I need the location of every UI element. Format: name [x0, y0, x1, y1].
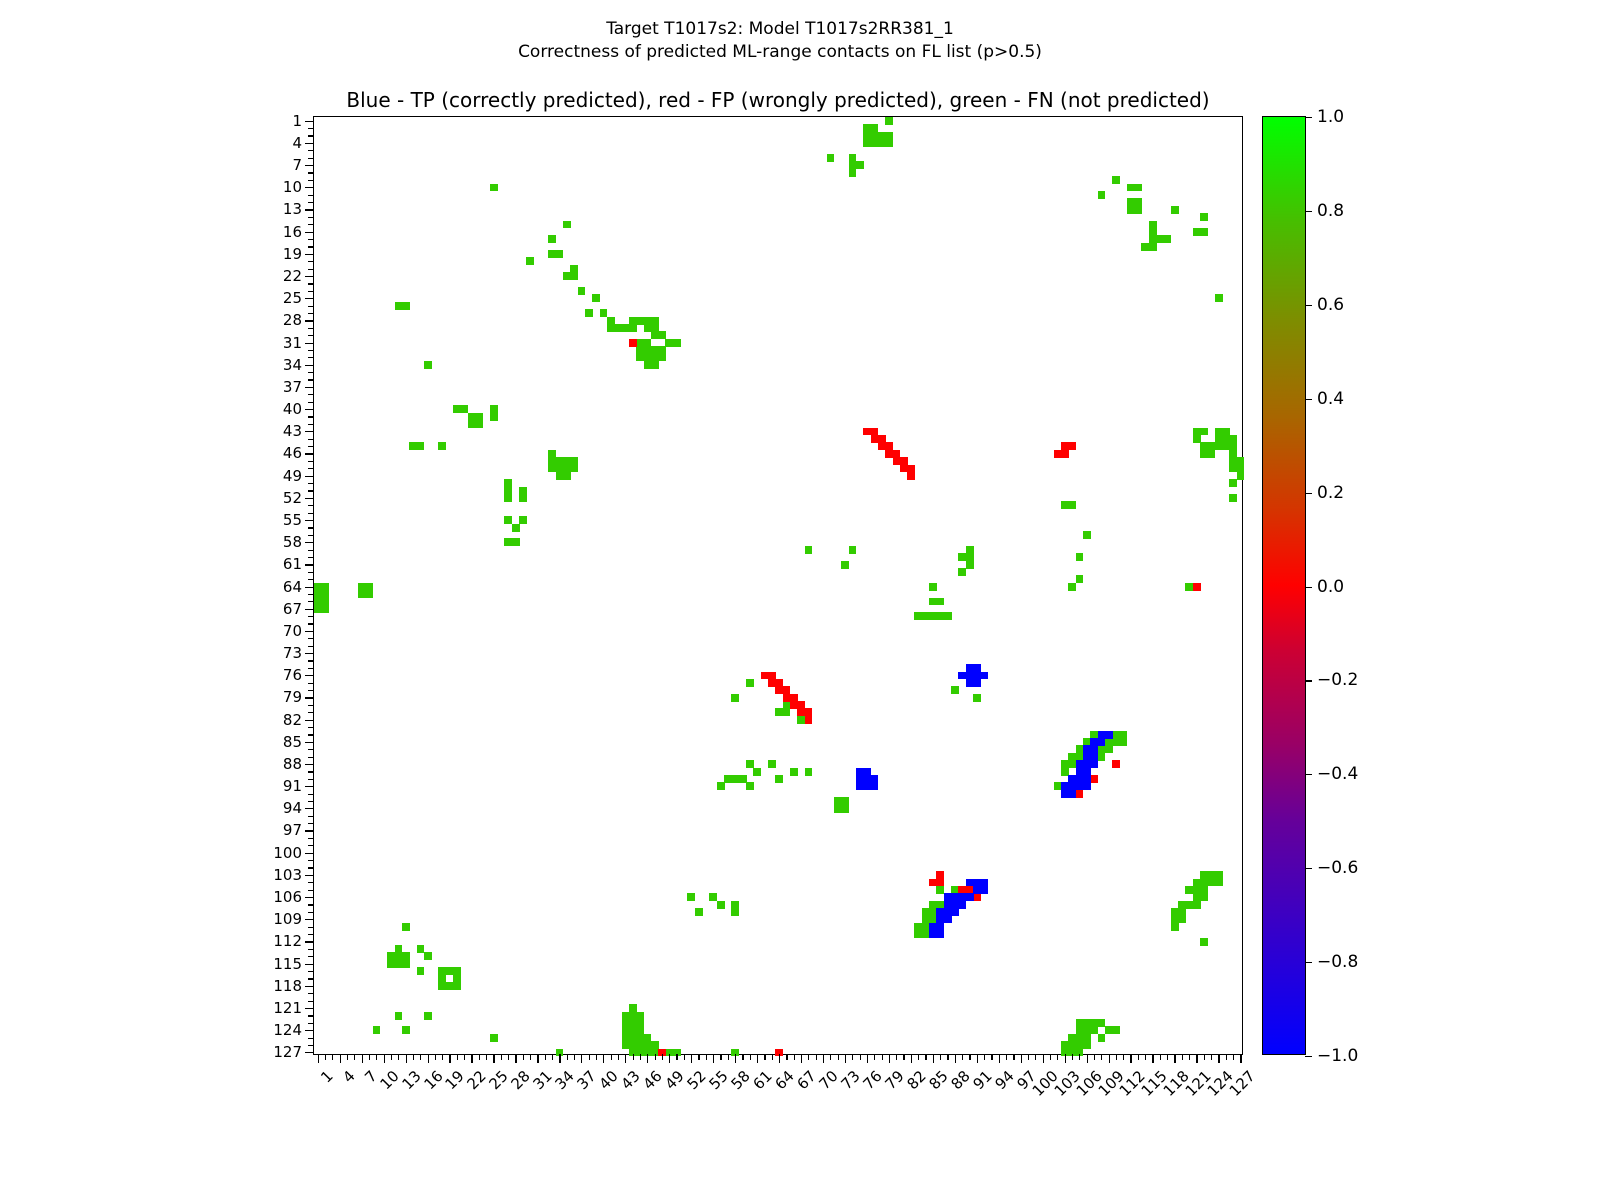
y-axis-tick: [305, 476, 314, 477]
contact-cell-fn: [1200, 228, 1208, 236]
x-axis-tick: [816, 1054, 817, 1060]
y-axis-tick: [308, 135, 314, 136]
x-axis-tick: [794, 1054, 795, 1060]
y-axis-tick: [305, 986, 314, 987]
x-axis-tick: [1211, 1054, 1212, 1060]
y-axis-tick: [308, 180, 314, 181]
contact-cell-fn: [563, 221, 571, 229]
contact-cell-fn: [373, 1026, 381, 1034]
y-axis-tick: [305, 853, 314, 854]
x-axis-tick: [1050, 1054, 1051, 1060]
contact-cell-fn: [929, 583, 937, 591]
x-axis-tick: [1145, 1054, 1146, 1060]
y-axis-tick: [308, 150, 314, 151]
figure-title-line-2: Correctness of predicted ML-range contac…: [0, 41, 1560, 64]
y-axis-tick: [308, 557, 314, 558]
contact-cell-fn: [768, 760, 776, 768]
contact-cell-fp: [629, 339, 637, 347]
y-axis-tick-label: 1: [292, 112, 302, 130]
contact-cell-fn: [490, 413, 498, 421]
contact-cell-fn: [512, 538, 520, 546]
x-axis-tick: [1101, 1054, 1102, 1060]
contact-cell-tp: [871, 782, 879, 790]
x-axis-tick: [735, 1054, 736, 1063]
colorbar-tick: [1305, 399, 1312, 400]
x-axis-tick: [1028, 1054, 1029, 1060]
contact-cell-tp: [1105, 731, 1113, 739]
x-axis-tick: [376, 1054, 377, 1060]
y-axis-tick-label: 67: [283, 600, 302, 618]
x-axis-tick: [933, 1054, 934, 1063]
x-axis-tick: [479, 1054, 480, 1060]
x-axis-tick: [1006, 1054, 1007, 1060]
x-axis-tick: [999, 1054, 1000, 1063]
contact-cell-fn: [673, 339, 681, 347]
contact-cell-fn: [1112, 1026, 1120, 1034]
x-axis-tick: [530, 1054, 531, 1060]
contact-cell-fn: [849, 546, 857, 554]
y-axis-tick: [308, 734, 314, 735]
y-axis-tick: [308, 313, 314, 314]
y-axis-tick: [305, 254, 314, 255]
y-axis-tick: [308, 461, 314, 462]
y-axis-tick: [305, 165, 314, 166]
x-axis-tick: [449, 1054, 450, 1063]
x-axis-tick: [325, 1054, 326, 1060]
x-axis-tick: [823, 1054, 824, 1063]
contact-cell-fn: [841, 561, 849, 569]
x-axis-tick: [486, 1054, 487, 1060]
contact-cell-fn: [1076, 553, 1084, 561]
x-axis-tick: [1072, 1054, 1073, 1060]
x-axis-tick: [779, 1054, 780, 1063]
contact-cell-tp: [1090, 760, 1098, 768]
contact-cell-fn: [856, 161, 864, 169]
x-axis-tick: [977, 1054, 978, 1063]
contact-cell-fn: [504, 494, 512, 502]
y-axis-tick: [308, 535, 314, 536]
y-axis-tick-label: 40: [283, 400, 302, 418]
x-axis-tick: [750, 1054, 751, 1060]
y-axis-tick: [308, 483, 314, 484]
x-axis-tick: [1138, 1054, 1139, 1060]
x-axis-tick: [420, 1054, 421, 1060]
contact-cell-fn: [402, 1026, 410, 1034]
x-axis-tick: [625, 1054, 626, 1063]
y-axis-tick: [305, 187, 314, 188]
colorbar-tick: [1305, 117, 1312, 118]
x-axis-tick: [1057, 1054, 1058, 1060]
y-axis-tick-label: 34: [283, 356, 302, 374]
x-axis-tick: [1174, 1054, 1175, 1063]
y-axis-tick: [308, 660, 314, 661]
contact-cell-fn: [563, 472, 571, 480]
x-axis-tick: [867, 1054, 868, 1063]
y-axis-tick: [308, 468, 314, 469]
colorbar-tick-label: −0.6: [1317, 858, 1358, 878]
contact-cell-tp: [944, 916, 952, 924]
y-axis-tick-label: 55: [283, 511, 302, 529]
contact-cell-fn: [1098, 753, 1106, 761]
y-axis-tick: [308, 394, 314, 395]
contact-cell-fp: [1068, 442, 1076, 450]
x-axis-tick: [1013, 1054, 1014, 1060]
y-axis-tick-label: 58: [283, 533, 302, 551]
y-axis-tick-label: 7: [292, 156, 302, 174]
colorbar-tick-label: 1.0: [1317, 107, 1344, 127]
x-axis-tick: [662, 1054, 663, 1060]
contact-cell-fn: [973, 694, 981, 702]
x-axis-tick: [742, 1054, 743, 1060]
y-axis-tick-label: 52: [283, 489, 302, 507]
y-axis-tick: [305, 808, 314, 809]
y-axis-tick: [308, 705, 314, 706]
contact-cell-fn: [936, 598, 944, 606]
y-axis-tick: [308, 1038, 314, 1039]
x-axis-tick-label: 7: [361, 1067, 380, 1086]
y-axis-tick: [308, 490, 314, 491]
contact-cell-fn: [944, 612, 952, 620]
contact-cell-fn: [1134, 184, 1142, 192]
contact-cell-fn: [512, 524, 520, 532]
y-axis-tick: [308, 623, 314, 624]
x-axis-tick: [1079, 1054, 1080, 1060]
x-axis-tick: [676, 1054, 677, 1060]
y-axis-tick: [305, 232, 314, 233]
y-axis-tick: [308, 505, 314, 506]
contact-cell-fn: [827, 154, 835, 162]
contact-cell-fn: [490, 1034, 498, 1042]
x-axis-tick: [406, 1054, 407, 1063]
contact-cell-fn: [1215, 294, 1223, 302]
x-axis-tick: [940, 1054, 941, 1060]
y-axis-tick: [305, 941, 314, 942]
y-axis-tick: [305, 298, 314, 299]
x-axis-tick: [1035, 1054, 1036, 1060]
contact-cell-fn: [585, 309, 593, 317]
x-axis-tick: [1204, 1054, 1205, 1060]
x-axis-tick: [706, 1054, 707, 1060]
y-axis-tick: [305, 919, 314, 920]
x-axis-tick: [852, 1054, 853, 1060]
y-axis-tick: [308, 727, 314, 728]
y-axis-tick: [308, 794, 314, 795]
y-axis-tick: [308, 594, 314, 595]
contact-cell-tp: [1098, 738, 1106, 746]
contact-cell-tp: [973, 679, 981, 687]
y-axis-tick-label: 88: [283, 755, 302, 773]
contact-cell-fn: [841, 805, 849, 813]
contact-cell-fn: [1200, 893, 1208, 901]
contact-cell-fn: [1068, 583, 1076, 591]
y-axis-tick: [308, 867, 314, 868]
contact-cell-fn: [1068, 501, 1076, 509]
x-axis-tick: [318, 1054, 319, 1063]
x-axis-tick: [757, 1054, 758, 1063]
y-axis-tick: [308, 379, 314, 380]
y-axis-tick-label: 127: [273, 1043, 302, 1061]
colorbar-tick: [1305, 305, 1312, 306]
contact-cell-fn: [1171, 923, 1179, 931]
x-axis-tick: [1167, 1054, 1168, 1060]
x-axis-tick: [413, 1054, 414, 1060]
y-axis-tick-label: 4: [292, 134, 302, 152]
y-axis-tick: [305, 830, 314, 831]
y-axis-tick: [308, 646, 314, 647]
x-axis-tick: [669, 1054, 670, 1063]
contact-cell-fn: [578, 287, 586, 295]
contact-cell-fn: [746, 782, 754, 790]
y-axis-tick-label: 124: [273, 1021, 302, 1039]
colorbar-tick-label: 0.2: [1317, 483, 1344, 503]
contact-cell-fp: [1193, 583, 1201, 591]
y-axis-tick: [305, 520, 314, 521]
contact-cell-fn: [885, 139, 893, 147]
x-axis-tick: [332, 1054, 333, 1060]
y-axis-tick-label: 16: [283, 223, 302, 241]
contact-cell-fn: [453, 982, 461, 990]
contact-map-cells: [314, 117, 1242, 1054]
y-axis-tick: [308, 971, 314, 972]
y-axis-tick-label: 22: [283, 267, 302, 285]
y-axis-tick: [308, 513, 314, 514]
x-axis-tick: [567, 1054, 568, 1060]
x-axis-tick: [1189, 1054, 1190, 1060]
contact-cell-fp: [936, 879, 944, 887]
y-axis-tick: [308, 246, 314, 247]
contact-cell-fn: [424, 361, 432, 369]
x-axis-tick: [655, 1054, 656, 1060]
contact-cell-fn: [1076, 575, 1084, 583]
y-axis-tick: [308, 904, 314, 905]
x-axis-tick: [728, 1054, 729, 1060]
y-axis-tick: [305, 964, 314, 965]
colorbar-tick-label: −1.0: [1317, 1046, 1358, 1066]
contact-cell-fn: [438, 442, 446, 450]
y-axis-tick: [305, 121, 314, 122]
x-axis-tick: [501, 1054, 502, 1060]
y-axis-tick: [308, 860, 314, 861]
x-axis-tick: [984, 1054, 985, 1060]
x-axis-tick: [347, 1054, 348, 1060]
y-axis-tick: [308, 601, 314, 602]
x-axis-tick: [1218, 1054, 1219, 1063]
contact-cell-fn: [570, 465, 578, 473]
contact-cell-fn: [885, 117, 893, 125]
y-axis-tick-label: 109: [273, 910, 302, 928]
y-axis-tick: [305, 143, 314, 144]
x-axis-tick: [442, 1054, 443, 1060]
contact-cell-tp: [958, 901, 966, 909]
y-axis-tick: [308, 1001, 314, 1002]
y-axis-tick: [308, 306, 314, 307]
x-axis-tick: [508, 1054, 509, 1060]
y-axis-tick-label: 103: [273, 866, 302, 884]
contact-cell-fp: [1076, 790, 1084, 798]
y-axis-tick: [308, 261, 314, 262]
y-axis-tick: [308, 668, 314, 669]
y-axis-tick: [308, 1045, 314, 1046]
contact-cell-fn: [519, 494, 527, 502]
x-axis-tick: [1226, 1054, 1227, 1060]
y-axis-tick: [308, 638, 314, 639]
contact-cell-fn: [1149, 243, 1157, 251]
y-axis-tick: [308, 446, 314, 447]
y-axis-tick: [308, 424, 314, 425]
x-axis-tick: [384, 1054, 385, 1063]
y-axis-tick: [305, 387, 314, 388]
x-axis-tick: [633, 1054, 634, 1060]
y-axis-tick: [308, 439, 314, 440]
x-axis-tick: [515, 1054, 516, 1063]
y-axis-tick: [305, 1030, 314, 1031]
y-axis-tick: [308, 283, 314, 284]
x-axis-tick: [830, 1054, 831, 1060]
y-axis-tick-label: 70: [283, 622, 302, 640]
x-axis-tick: [1116, 1054, 1117, 1060]
contact-cell-fn: [417, 442, 425, 450]
x-axis-tick: [918, 1054, 919, 1060]
x-axis-tick: [1233, 1054, 1234, 1060]
y-axis-tick-label: 121: [273, 999, 302, 1017]
y-axis-tick: [305, 742, 314, 743]
x-axis-tick: [596, 1054, 597, 1060]
y-axis-tick: [308, 749, 314, 750]
y-axis-tick-label: 61: [283, 555, 302, 573]
contact-cell-tp: [951, 908, 959, 916]
x-axis-tick: [786, 1054, 787, 1060]
y-axis-tick: [305, 631, 314, 632]
y-axis-tick: [308, 1023, 314, 1024]
contact-cell-fn: [651, 361, 659, 369]
y-axis-tick: [308, 572, 314, 573]
x-axis-tick: [545, 1054, 546, 1060]
figure-title: Target T1017s2: Model T1017s2RR381_1 Cor…: [0, 18, 1560, 64]
contact-cell-fn: [951, 686, 959, 694]
contact-cell-fn: [717, 901, 725, 909]
y-axis-tick-label: 10: [283, 178, 302, 196]
contact-cell-fn: [1207, 450, 1215, 458]
x-axis-tick: [874, 1054, 875, 1060]
contact-cell-fn: [1229, 479, 1237, 487]
x-axis-tick: [955, 1054, 956, 1063]
y-axis-tick-label: 100: [273, 844, 302, 862]
y-axis-tick: [308, 224, 314, 225]
y-axis-tick-label: 112: [273, 932, 302, 950]
y-axis-tick: [305, 365, 314, 366]
y-axis-tick-label: 82: [283, 711, 302, 729]
y-axis-tick: [308, 579, 314, 580]
colorbar-tick: [1305, 868, 1312, 869]
colorbar-tick: [1305, 493, 1312, 494]
y-axis-tick-label: 97: [283, 821, 302, 839]
y-axis-tick: [305, 431, 314, 432]
y-axis-tick: [308, 328, 314, 329]
x-axis-tick: [691, 1054, 692, 1063]
contact-cell-fn: [1163, 235, 1171, 243]
y-axis-tick: [305, 409, 314, 410]
x-axis-tick: [1094, 1054, 1095, 1060]
contact-cell-fn: [1112, 176, 1120, 184]
axes-legend-title: Blue - TP (correctly predicted), red - F…: [313, 88, 1243, 112]
y-axis-tick: [308, 416, 314, 417]
colorbar-tick: [1305, 774, 1312, 775]
y-axis-tick: [308, 402, 314, 403]
y-axis-tick-label: 115: [273, 955, 302, 973]
x-axis-tick: [860, 1054, 861, 1060]
y-axis-tick: [305, 453, 314, 454]
y-axis-tick: [308, 949, 314, 950]
x-axis-tick: [435, 1054, 436, 1060]
y-axis-tick: [305, 564, 314, 565]
x-axis-tick: [713, 1054, 714, 1063]
x-axis-tick: [1240, 1054, 1241, 1063]
contact-cell-fn: [746, 679, 754, 687]
contact-cell-fn: [1105, 745, 1113, 753]
x-axis-tick: [552, 1054, 553, 1060]
contact-cell-fn: [402, 923, 410, 931]
y-axis-tick: [308, 158, 314, 159]
contact-cell-fn: [395, 1012, 403, 1020]
x-axis-tick: [574, 1054, 575, 1060]
y-axis-tick: [308, 202, 314, 203]
colorbar-tick-label: 0.6: [1317, 295, 1344, 315]
y-axis-tick: [308, 195, 314, 196]
contact-cell-fn: [1098, 1034, 1106, 1042]
contact-cell-fn: [556, 250, 564, 258]
contact-map-plot[interactable]: 1144771010131316161919222225252828313134…: [313, 116, 1243, 1055]
x-axis-tick-label: 1: [317, 1067, 336, 1086]
y-axis-tick: [308, 335, 314, 336]
y-axis-tick: [308, 550, 314, 551]
contact-cell-fn: [966, 561, 974, 569]
colorbar-tick: [1305, 680, 1312, 681]
y-axis-tick: [308, 882, 314, 883]
x-axis-tick: [1065, 1054, 1066, 1063]
colorbar-tick-label: −0.4: [1317, 764, 1358, 784]
contact-cell-fn: [570, 272, 578, 280]
x-axis-tick: [428, 1054, 429, 1063]
contact-cell-fn: [1229, 494, 1237, 502]
y-axis-tick: [308, 357, 314, 358]
contact-cell-fn: [526, 257, 534, 265]
y-axis-tick: [308, 712, 314, 713]
contact-cell-fn: [1193, 901, 1201, 909]
contact-cell-fn: [402, 302, 410, 310]
y-axis-tick-label: 28: [283, 311, 302, 329]
y-axis-tick: [308, 217, 314, 218]
y-axis-tick-label: 79: [283, 688, 302, 706]
contact-cell-fn: [402, 960, 410, 968]
contact-cell-tp: [936, 930, 944, 938]
contact-cell-fn: [490, 184, 498, 192]
contact-cell-tp: [966, 893, 974, 901]
contact-cell-fn: [1215, 879, 1223, 887]
y-axis-tick-label: 19: [283, 245, 302, 263]
x-axis-tick: [362, 1054, 363, 1063]
contact-cell-fn: [321, 605, 329, 613]
contact-cell-fn: [658, 354, 666, 362]
x-axis-tick: [340, 1054, 341, 1063]
x-axis-tick-label: 127: [1226, 1067, 1259, 1100]
x-axis-tick: [911, 1054, 912, 1063]
contact-cell-fn: [548, 235, 556, 243]
contact-cell-fn: [731, 694, 739, 702]
y-axis-tick: [308, 239, 314, 240]
y-axis-tick: [305, 697, 314, 698]
y-axis-tick: [308, 816, 314, 817]
x-axis-tick: [1196, 1054, 1197, 1063]
